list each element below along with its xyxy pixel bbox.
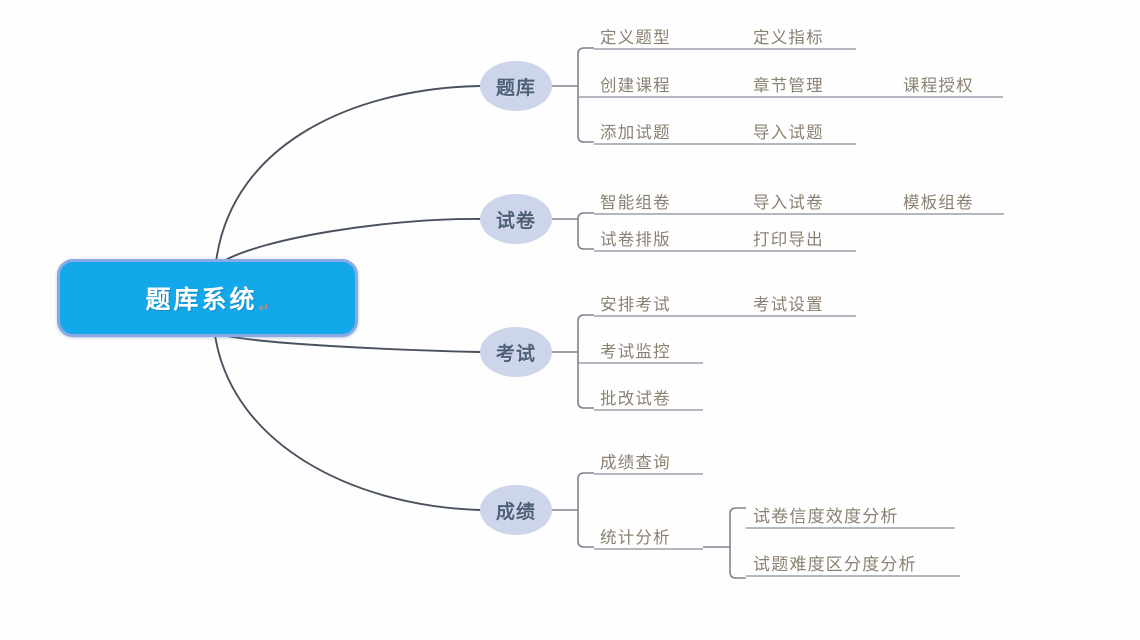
- leaf-question-difficulty-discrimination-analysis[interactable]: 试题难度区分度分析: [753, 550, 917, 575]
- branch-node-kaoshi[interactable]: 考试: [480, 327, 552, 377]
- branch-node-label: 考试: [496, 339, 536, 366]
- branch-node-label: 试卷: [496, 206, 536, 233]
- leaf-print-export[interactable]: 打印导出: [753, 226, 824, 250]
- bracket-tiku: [578, 48, 594, 142]
- branch-node-chengji[interactable]: 成绩: [480, 485, 552, 535]
- leaf-import-paper[interactable]: 导入试卷: [753, 189, 824, 213]
- root-node-label: 题库系统: [146, 280, 258, 316]
- leaf-smart-paper-assembly[interactable]: 智能组卷: [600, 189, 671, 213]
- leaf-define-indicator[interactable]: 定义指标: [753, 24, 824, 48]
- leaf-define-question-type[interactable]: 定义题型: [600, 24, 671, 48]
- branch-node-shijuan[interactable]: 试卷: [480, 194, 552, 244]
- root-node[interactable]: 题库系统 ↵: [57, 259, 358, 337]
- branch-node-label: 成绩: [496, 497, 536, 524]
- bracket-chengji: [578, 473, 594, 547]
- branch-node-label: 题库: [496, 73, 536, 100]
- leaf-course-authorization[interactable]: 课程授权: [903, 72, 974, 96]
- leaf-exam-monitoring[interactable]: 考试监控: [600, 338, 671, 362]
- leaf-add-question[interactable]: 添加试题: [600, 119, 671, 143]
- leaf-schedule-exam[interactable]: 安排考试: [600, 291, 671, 315]
- leaf-template-paper-assembly[interactable]: 模板组卷: [903, 189, 974, 213]
- leaf-exam-settings[interactable]: 考试设置: [753, 291, 824, 315]
- mindmap-canvas: 题库系统 ↵ 题库 试卷 考试 成绩 定义题型 定义指标 创建课程 章节管理 课…: [0, 0, 1140, 640]
- leaf-paper-reliability-validity-analysis[interactable]: 试卷信度效度分析: [753, 502, 899, 527]
- leaf-paper-layout[interactable]: 试卷排版: [600, 226, 671, 250]
- leaf-grade-papers[interactable]: 批改试卷: [600, 385, 671, 409]
- leaf-create-course[interactable]: 创建课程: [600, 72, 671, 96]
- link-root-to-tiku: [216, 86, 480, 262]
- leaf-statistical-analysis[interactable]: 统计分析: [600, 524, 671, 548]
- pilcrow-icon: ↵: [259, 300, 270, 316]
- bracket-tongji: [730, 508, 746, 578]
- bracket-shijuan: [578, 213, 594, 249]
- link-root-to-shijuan: [222, 219, 480, 262]
- leaf-score-query[interactable]: 成绩查询: [600, 449, 671, 473]
- branch-node-tiku[interactable]: 题库: [480, 61, 552, 111]
- leaf-import-question[interactable]: 导入试题: [753, 119, 824, 143]
- bracket-kaoshi: [578, 315, 594, 408]
- link-root-to-chengji: [215, 335, 480, 510]
- leaf-chapter-management[interactable]: 章节管理: [753, 72, 824, 96]
- link-root-to-kaoshi: [222, 335, 480, 352]
